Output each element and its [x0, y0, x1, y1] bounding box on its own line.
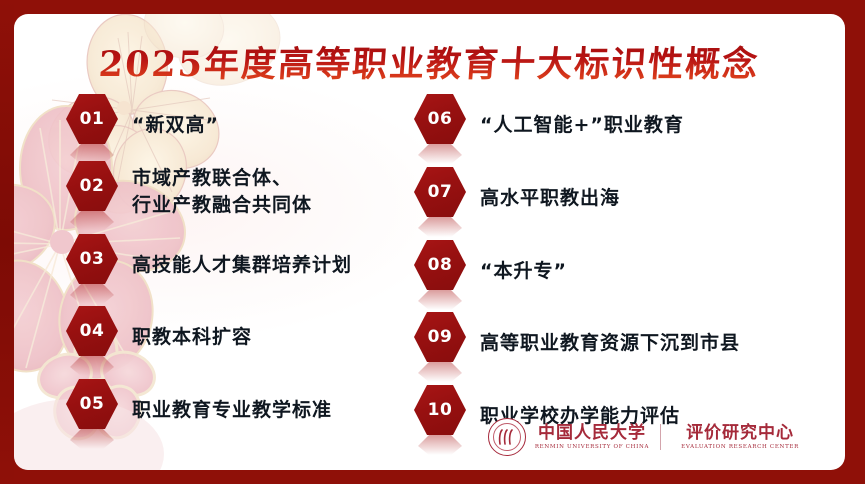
concept-label: 高等职业教育资源下沉到市县: [480, 330, 740, 357]
concept-label: “本升专”: [480, 258, 567, 285]
badge-number: 03: [66, 234, 118, 284]
organization-logo: 中国人民大学 RENMIN UNIVERSITY OF CHINA 评价研究中心…: [488, 418, 799, 456]
list-item[interactable]: 06 “人工智能+”职业教育: [414, 94, 684, 156]
badge-reflection: [70, 356, 114, 376]
list-item[interactable]: 07 高水平职教出海: [414, 167, 620, 229]
badge-reflection: [418, 290, 462, 310]
poster-title-wrap: 2025年度高等职业教育十大标识性概念: [14, 36, 845, 87]
center-name-en: EVALUATION RESEARCH CENTER: [681, 444, 799, 450]
badge-reflection: [70, 211, 114, 231]
badge-reflection: [418, 362, 462, 382]
seal-glyph-icon: [497, 429, 517, 445]
left-frame-strip: [0, 0, 14, 484]
list-item[interactable]: 03 高技能人才集群培养计划: [66, 234, 352, 296]
badge-04: 04: [66, 306, 118, 368]
badge-number: 04: [66, 306, 118, 356]
badge-number: 01: [66, 94, 118, 144]
badge-reflection: [418, 217, 462, 237]
badge-08: 08: [414, 240, 466, 302]
poster-card: 2025年度高等职业教育十大标识性概念 01 “新双高” 02 市域: [14, 14, 845, 470]
badge-number: 09: [414, 312, 466, 362]
badge-number: 07: [414, 167, 466, 217]
badge-10: 10: [414, 385, 466, 447]
list-item[interactable]: 01 “新双高”: [66, 94, 219, 156]
concept-label: 市域产教联合体、 行业产教融合共同体: [132, 165, 312, 219]
university-name-cn: 中国人民大学: [538, 424, 646, 443]
badge-number: 08: [414, 240, 466, 290]
badge-05: 05: [66, 379, 118, 441]
concept-label: 职业教育专业教学标准: [132, 397, 332, 424]
concept-label: “新双高”: [132, 112, 219, 139]
logo-divider: [660, 424, 661, 450]
concept-column-left: 01 “新双高” 02 市域产教联合体、 行业产教融合共同体 03: [66, 88, 466, 418]
badge-reflection: [418, 435, 462, 455]
badge-09: 09: [414, 312, 466, 374]
university-seal-icon: [488, 418, 526, 456]
concept-label: 高水平职教出海: [480, 185, 620, 212]
badge-number: 10: [414, 385, 466, 435]
concept-label: 职教本科扩容: [132, 324, 252, 351]
badge-07: 07: [414, 167, 466, 229]
concept-column-right: 06 “人工智能+”职业教育 07 高水平职教出海 08: [414, 88, 814, 418]
list-item[interactable]: 09 高等职业教育资源下沉到市县: [414, 312, 740, 374]
badge-number: 06: [414, 94, 466, 144]
badge-01: 01: [66, 94, 118, 156]
badge-reflection: [70, 284, 114, 304]
page-title: 2025年度高等职业教育十大标识性概念: [97, 36, 761, 87]
list-item[interactable]: 08 “本升专”: [414, 240, 567, 302]
concept-columns: 01 “新双高” 02 市域产教联合体、 行业产教融合共同体 03: [14, 88, 845, 418]
university-name-en: RENMIN UNIVERSITY OF CHINA: [535, 444, 649, 450]
badge-number: 05: [66, 379, 118, 429]
concept-label: “人工智能+”职业教育: [480, 112, 684, 139]
center-name-cn: 评价研究中心: [686, 424, 794, 443]
badge-06: 06: [414, 94, 466, 156]
concept-label: 高技能人才集群培养计划: [132, 252, 352, 279]
university-name-block: 中国人民大学 RENMIN UNIVERSITY OF CHINA: [535, 424, 649, 451]
poster-root: 2025年度高等职业教育十大标识性概念 01 “新双高” 02 市域: [0, 0, 865, 484]
list-item[interactable]: 02 市域产教联合体、 行业产教融合共同体: [66, 161, 312, 223]
center-name-block: 评价研究中心 EVALUATION RESEARCH CENTER: [681, 424, 799, 451]
badge-number: 02: [66, 161, 118, 211]
badge-reflection: [70, 429, 114, 449]
list-item[interactable]: 04 职教本科扩容: [66, 306, 252, 368]
badge-03: 03: [66, 234, 118, 296]
badge-02: 02: [66, 161, 118, 223]
list-item[interactable]: 05 职业教育专业教学标准: [66, 379, 332, 441]
badge-reflection: [418, 144, 462, 164]
